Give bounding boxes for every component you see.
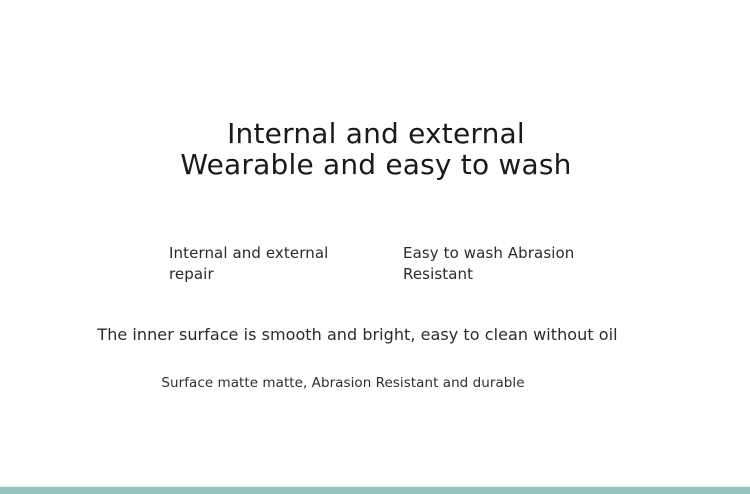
headline-line-1: Internal and external <box>1 118 750 149</box>
feature-item-internal-external-repair: Internal and external repair <box>169 243 379 285</box>
feature-right-line-2: Resistant <box>403 264 618 285</box>
feature-columns: Internal and external repair Easy to was… <box>0 243 750 293</box>
feature-left-line-1: Internal and external <box>169 243 379 264</box>
headline-line-2: Wearable and easy to wash <box>1 149 750 180</box>
feature-item-easy-wash-abrasion-resistant: Easy to wash Abrasion Resistant <box>403 243 618 285</box>
accent-band <box>0 487 750 494</box>
description-main: The inner surface is smooth and bright, … <box>0 324 715 346</box>
description-sub: Surface matte matte, Abrasion Resistant … <box>0 374 686 393</box>
banner-headline: Internal and external Wearable and easy … <box>0 118 750 180</box>
product-feature-banner: Internal and external Wearable and easy … <box>0 0 750 494</box>
feature-left-line-2: repair <box>169 264 379 285</box>
feature-right-line-1: Easy to wash Abrasion <box>403 243 618 264</box>
